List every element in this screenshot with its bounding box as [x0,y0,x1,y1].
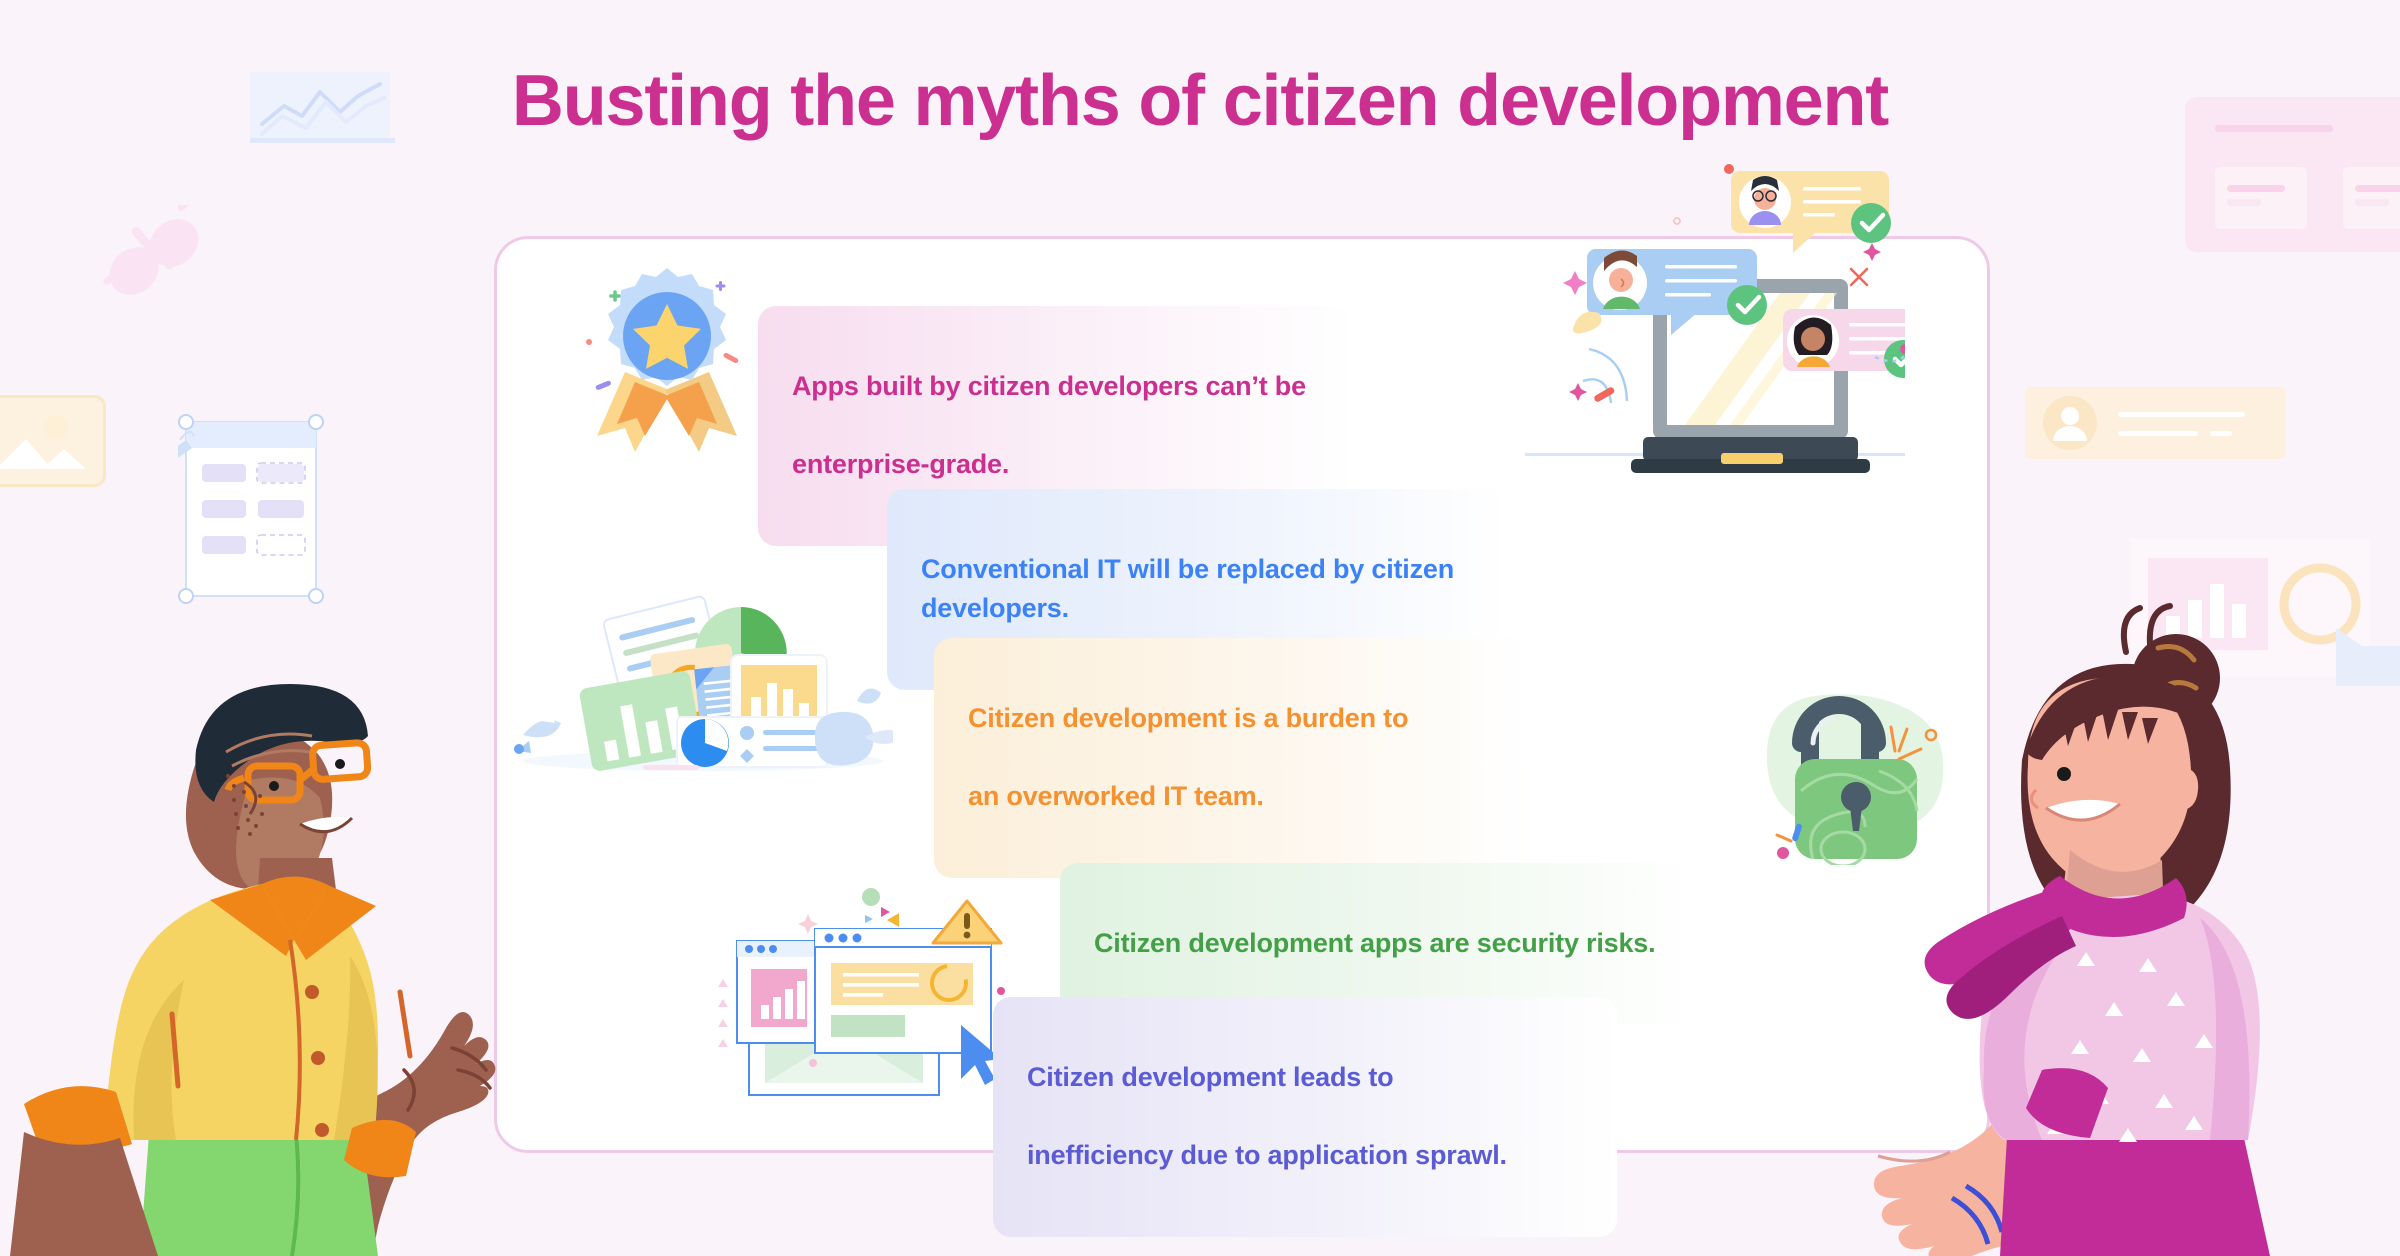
form-builder-decor [178,414,324,604]
myth-line-1: Citizen development apps are security ri… [1094,924,1666,963]
myth-line-2: enterprise-grade. [792,445,1320,484]
dashboard-mock-decor [2130,538,2400,686]
image-placeholder-decor [0,395,106,487]
myth-line-1: Citizen development leads to [1027,1058,1583,1097]
man-yellow-shirt-illustration [0,600,560,1256]
analytics-charts-icon [513,593,893,773]
myth-bubble-burden-it-team[interactable]: Citizen development is a burden to an ov… [934,638,1532,878]
myth-line-1: Apps built by citizen developers can’t b… [792,367,1320,406]
infographic-canvas: Busting the myths of citizen development [0,0,2400,1256]
padlock-icon [1755,665,1965,865]
myth-line-2: inefficiency due to application sprawl. [1027,1136,1583,1175]
plug-connector-decor [100,205,210,310]
laptop-chat-icon [1525,161,1905,521]
browser-windows-warning-icon [709,883,1009,1103]
myth-line-2: an overworked IT team. [968,777,1498,816]
myth-card: Apps built by citizen developers can’t b… [494,236,1990,1153]
myth-bubble-application-sprawl[interactable]: Citizen development leads to inefficienc… [993,997,1617,1237]
myth-line-1: Conventional IT will be replaced by citi… [921,550,1473,628]
myth-line-1: Citizen development is a burden to [968,699,1498,738]
contact-row-decor [2025,387,2285,459]
page-title: Busting the myths of citizen development [0,62,2400,141]
award-ribbon-icon [577,264,757,454]
